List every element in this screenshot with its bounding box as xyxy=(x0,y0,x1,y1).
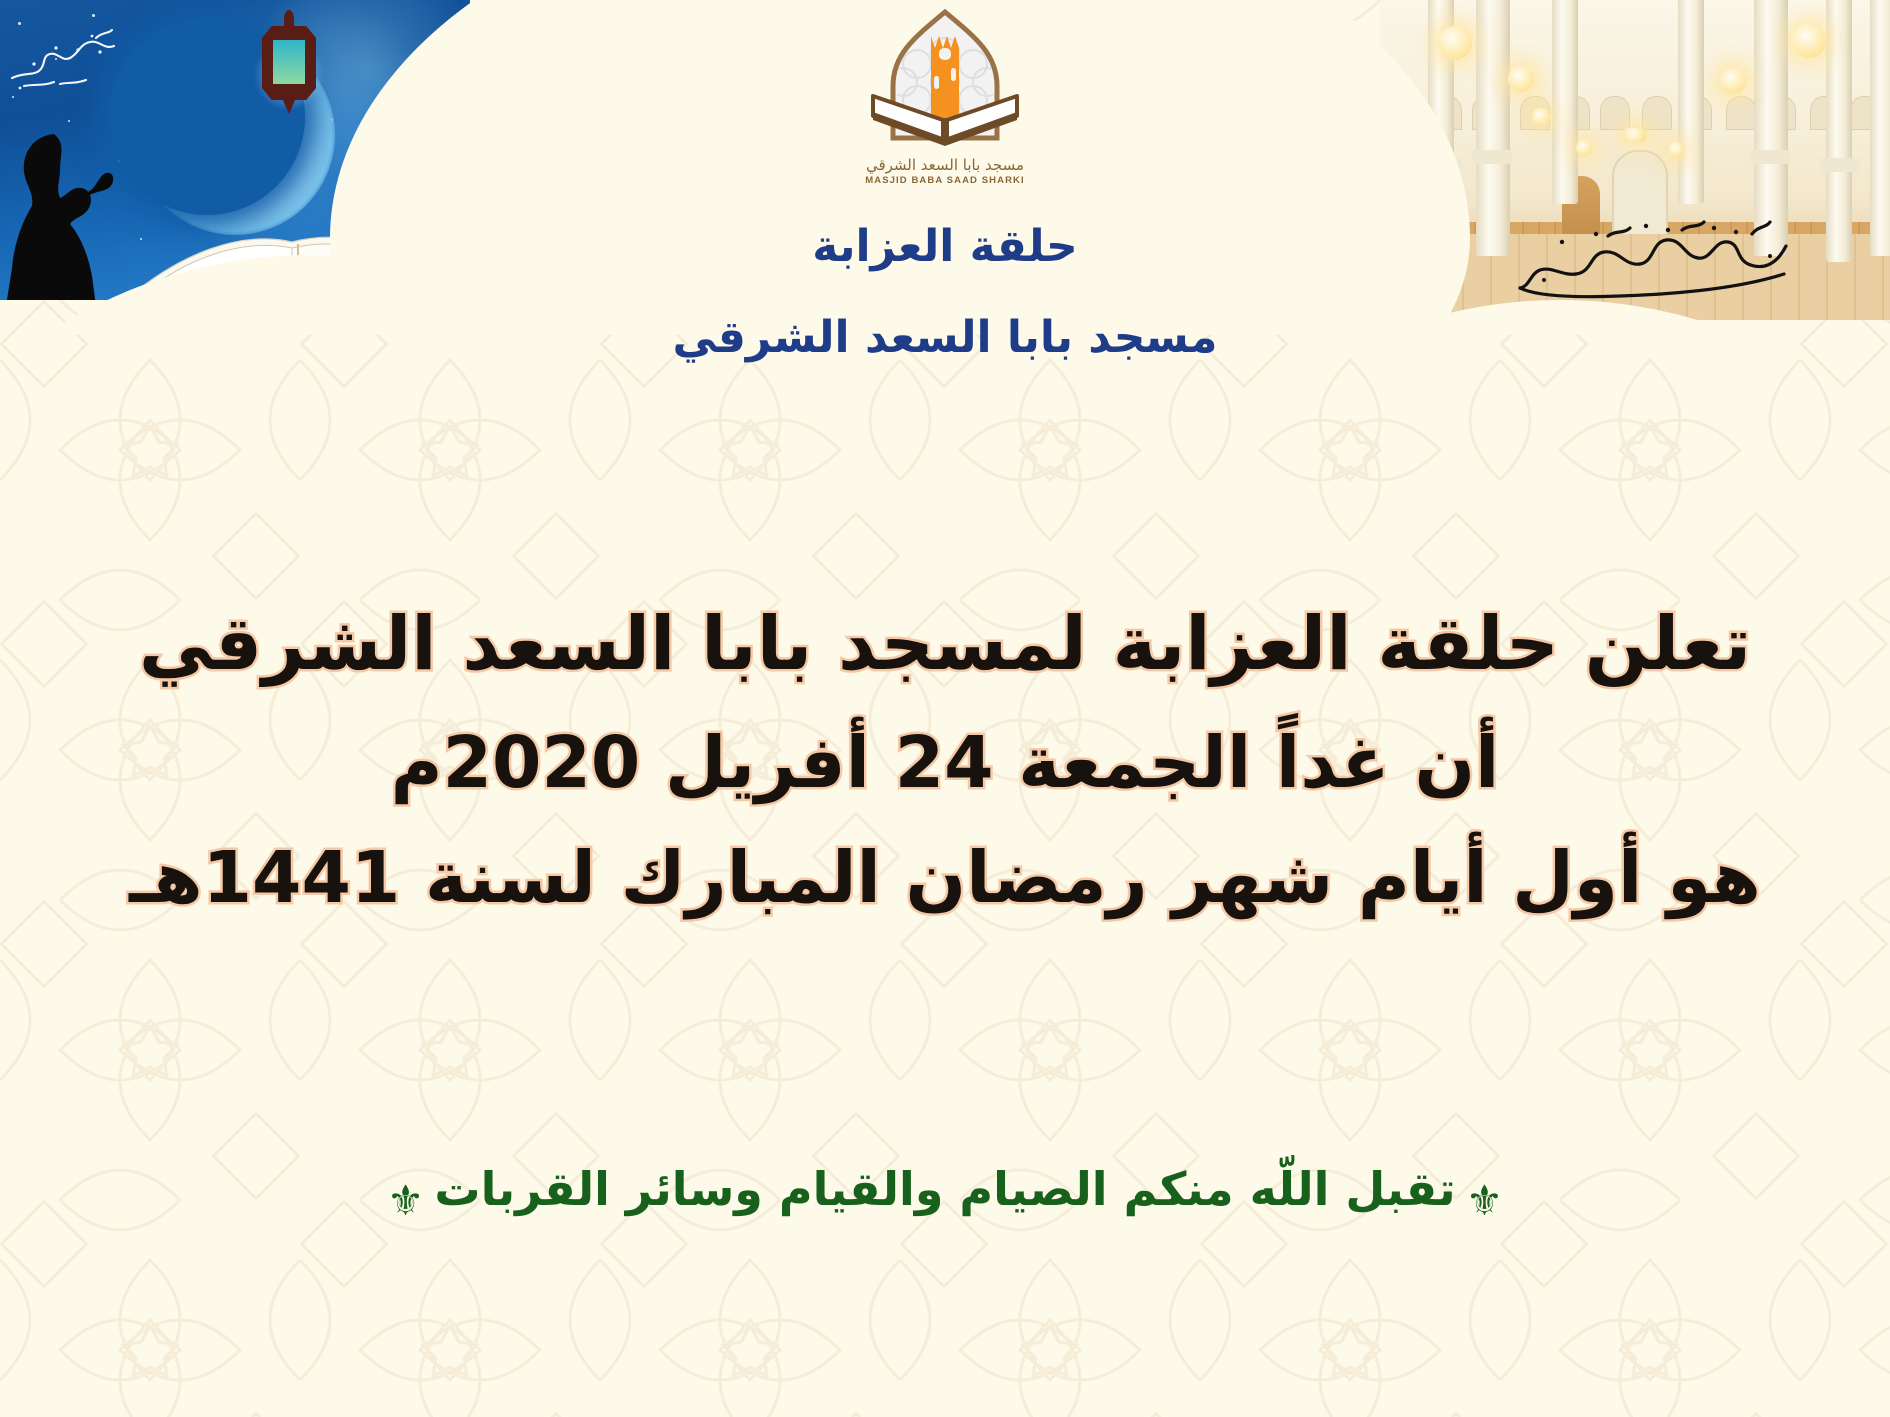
announcement-line-3: هو أول أيام شهر رمضان المبارك لسنة 1441ه… xyxy=(70,820,1820,935)
title-line-1: حلقة العزابة xyxy=(0,222,1890,273)
announcement-block: تعلن حلقة العزابة لمسجد بابا السعد الشرق… xyxy=(0,585,1890,935)
globe-light xyxy=(1438,26,1472,60)
mosque-column xyxy=(1678,0,1704,204)
title-line-2: مسجد بابا السعد الشرقي xyxy=(0,313,1890,364)
logo-arabic-name: مسجد بابا السعد الشرقي xyxy=(861,156,1029,174)
globe-light xyxy=(1532,108,1550,126)
title-block: حلقة العزابة مسجد بابا السعد الشرقي xyxy=(0,222,1890,363)
chandelier-light xyxy=(1624,128,1646,142)
clerestory-arches xyxy=(1380,96,1890,130)
announcement-line-1: تعلن حلقة العزابة لمسجد بابا السعد الشرق… xyxy=(70,585,1820,705)
dua-block: ⚜تقبل اللّه منكم الصيام والقيام وسائر ال… xyxy=(0,1162,1890,1225)
globe-light xyxy=(1792,24,1826,58)
mosque-logo: مسجد بابا السعد الشرقي MASJID BABA SAAD … xyxy=(861,8,1029,194)
column-capital xyxy=(1820,158,1860,172)
announcement-line-2: أن غداً الجمعة 24 أفريل 2020م xyxy=(70,705,1820,820)
mosque-arch-logo-icon xyxy=(861,8,1029,156)
column-capital xyxy=(1750,150,1790,164)
lantern-icon xyxy=(258,10,320,118)
poster-canvas: مسجد بابا السعد الشرقي MASJID BABA SAAD … xyxy=(0,0,1890,1417)
globe-light xyxy=(1668,142,1684,158)
fleur-de-lis-icon-right: ⚜ xyxy=(1456,1176,1514,1225)
logo-latin-name: MASJID BABA SAAD SHARKI xyxy=(861,175,1029,186)
mosque-column xyxy=(1552,0,1578,204)
globe-light xyxy=(1508,66,1534,92)
globe-light xyxy=(1576,140,1592,156)
ramadan-kareem-calligraphy xyxy=(4,26,129,104)
column-capital xyxy=(1472,150,1512,164)
globe-light xyxy=(1720,68,1746,94)
fleur-de-lis-icon-left: ⚜ xyxy=(377,1176,435,1225)
mosque-column xyxy=(1870,0,1890,256)
dua-text: تقبل اللّه منكم الصيام والقيام وسائر الق… xyxy=(434,1162,1455,1216)
